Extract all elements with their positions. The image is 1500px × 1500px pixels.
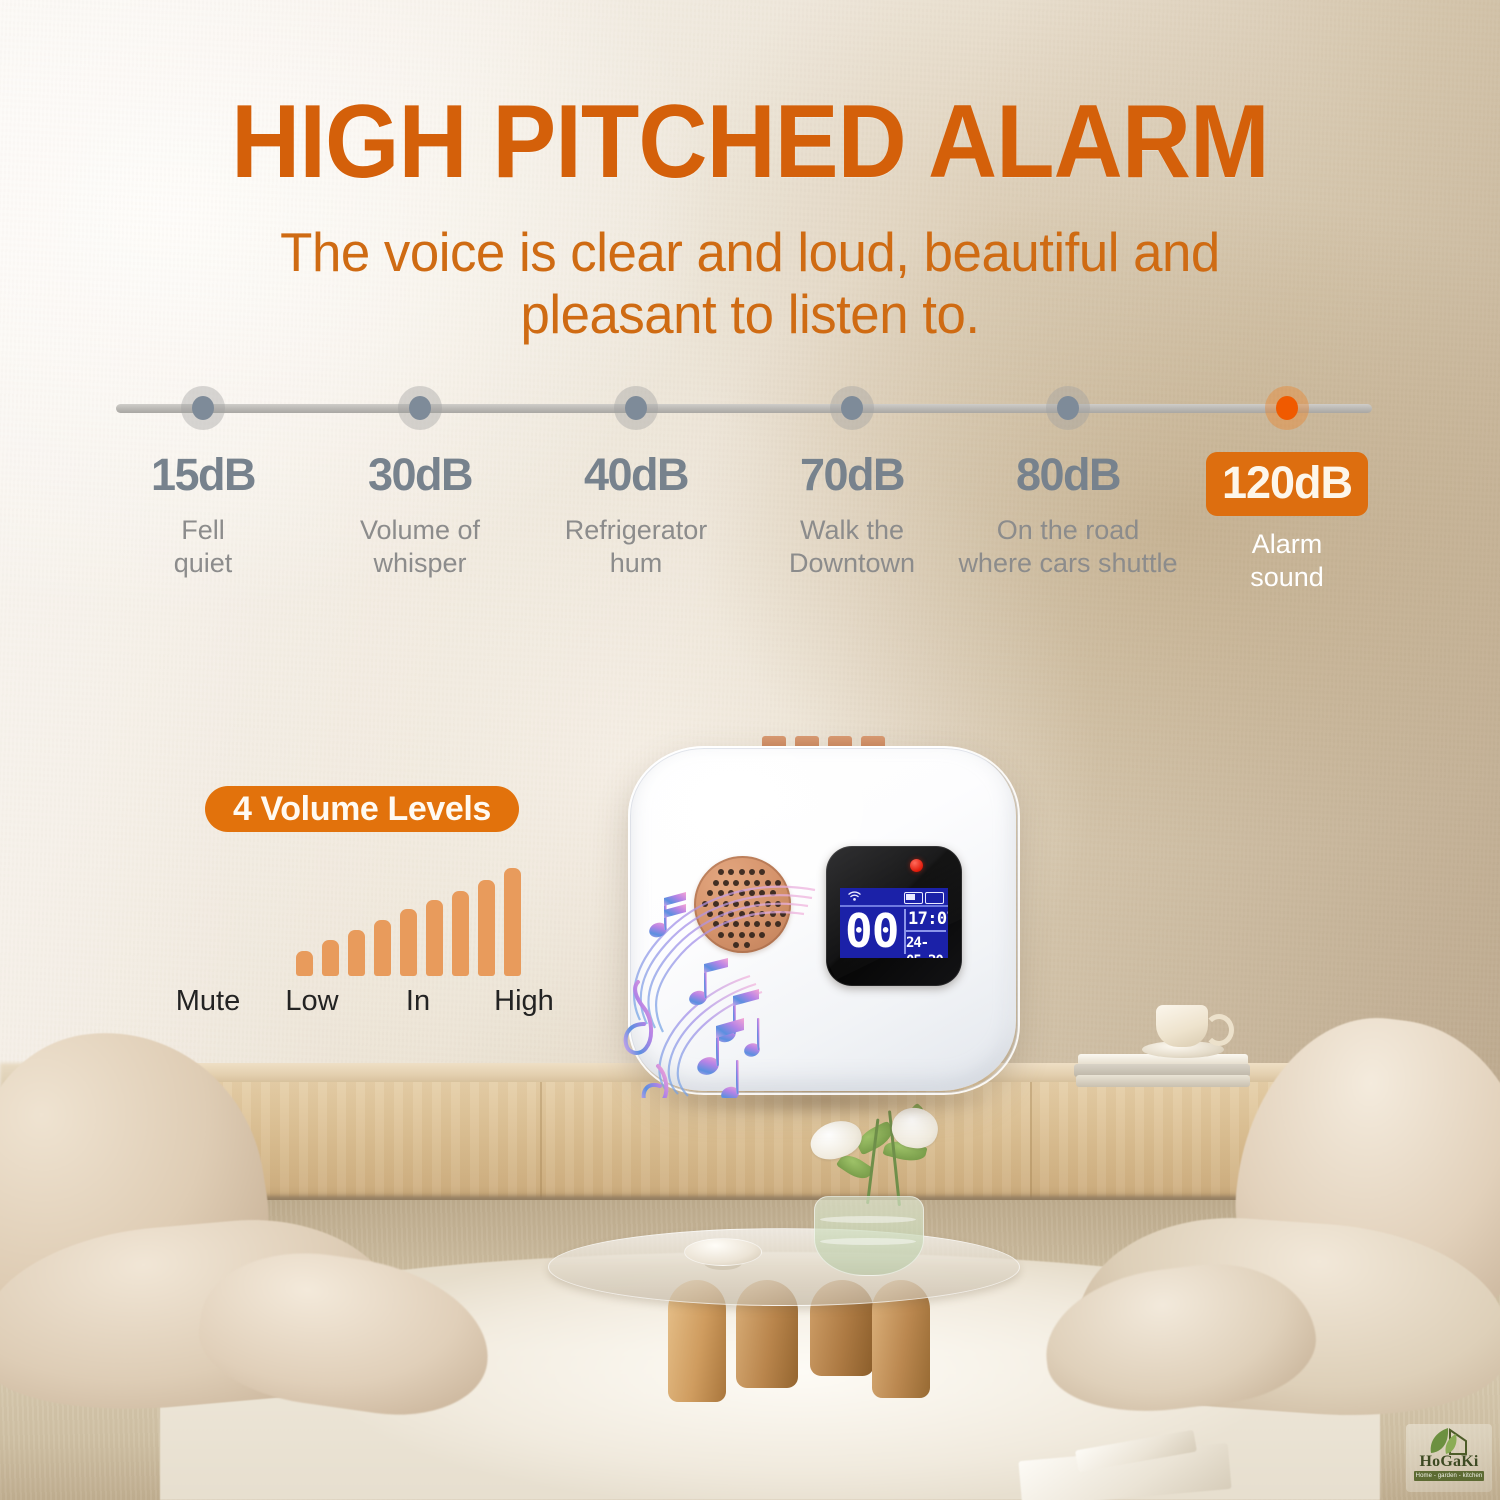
db-scale-label-80db: 80dBOn the roadwhere cars shuttle bbox=[943, 452, 1193, 580]
volume-label-high: High bbox=[494, 985, 554, 1018]
dot-core bbox=[625, 396, 647, 420]
coffee-table-glass-top bbox=[548, 1228, 1020, 1306]
dot-core bbox=[841, 396, 863, 420]
logo-tagline: Home - garden - kitchen bbox=[1414, 1471, 1484, 1481]
db-scale-dot-70db bbox=[830, 386, 874, 430]
music-notes-decoration bbox=[600, 838, 830, 1098]
leaf-house-icon bbox=[1426, 1426, 1472, 1456]
db-description: Fellquiet bbox=[78, 514, 328, 580]
brand-logo: HoGaKi Home - garden - kitchen bbox=[1406, 1424, 1492, 1492]
glass-vase bbox=[814, 1196, 924, 1276]
dot-core bbox=[1276, 396, 1298, 420]
lcd-time: 17:07 bbox=[908, 909, 946, 929]
db-scale-dot-15db bbox=[181, 386, 225, 430]
lcd-reading: 00 bbox=[845, 908, 903, 955]
db-description: On the roadwhere cars shuttle bbox=[943, 514, 1193, 580]
db-value: 80dB bbox=[943, 452, 1193, 497]
volume-bar-7 bbox=[452, 891, 469, 976]
book-bottom bbox=[1076, 1075, 1250, 1087]
lcd-time-separator bbox=[906, 930, 946, 932]
battery-charging-icon bbox=[904, 892, 923, 904]
page-title: HIGH PITCHED ALARM bbox=[60, 90, 1440, 194]
db-value: 120dB bbox=[1206, 452, 1368, 516]
volume-bar-5 bbox=[400, 909, 417, 976]
status-led-icon bbox=[910, 859, 923, 872]
vase-ring bbox=[820, 1238, 916, 1245]
db-scale-label-40db: 40dBRefrigeratorhum bbox=[511, 452, 761, 580]
db-scale-track bbox=[116, 404, 1372, 413]
db-scale-dot-120db bbox=[1265, 386, 1309, 430]
volume-label-low: Low bbox=[285, 985, 338, 1018]
dot-core bbox=[409, 396, 431, 420]
volume-bar-4 bbox=[374, 920, 391, 976]
battery-empty-icon bbox=[925, 892, 944, 904]
logo-wordmark: HoGaKi bbox=[1406, 1454, 1492, 1470]
decor-bowl bbox=[684, 1238, 762, 1266]
db-value: 70dB bbox=[727, 452, 977, 497]
db-scale-dot-30db bbox=[398, 386, 442, 430]
coffee-cup bbox=[1156, 1005, 1208, 1047]
device-display-panel: 00 17:07 24-05-20 bbox=[826, 846, 962, 986]
dot-core bbox=[1057, 396, 1079, 420]
volume-bar-1 bbox=[296, 951, 313, 976]
db-description: Volume ofwhisper bbox=[295, 514, 545, 580]
db-scale-label-120db: 120dBAlarmsound bbox=[1162, 452, 1412, 594]
db-description: Walk theDowntown bbox=[727, 514, 977, 580]
db-description: Alarmsound bbox=[1162, 528, 1412, 594]
db-scale-label-15db: 15dBFellquiet bbox=[78, 452, 328, 580]
lcd-date: 24-05-20 bbox=[906, 934, 948, 952]
db-scale-label-30db: 30dBVolume ofwhisper bbox=[295, 452, 545, 580]
volume-bar-3 bbox=[348, 930, 365, 976]
db-value: 15dB bbox=[78, 452, 328, 497]
volume-bar-9 bbox=[504, 868, 521, 976]
sideboard-seam bbox=[540, 1082, 542, 1200]
page-subtitle: The voice is clear and loud, beautiful a… bbox=[251, 222, 1249, 345]
db-value: 40dB bbox=[511, 452, 761, 497]
volume-level-bar-chart bbox=[296, 866, 536, 976]
promo-banner: HIGH PITCHED ALARM The voice is clear an… bbox=[0, 0, 1500, 1500]
vase-ring bbox=[820, 1216, 916, 1223]
db-description: Refrigeratorhum bbox=[511, 514, 761, 580]
db-value: 30dB bbox=[295, 452, 545, 497]
volume-levels-badge: 4 Volume Levels bbox=[205, 786, 519, 832]
db-scale-label-70db: 70dBWalk theDowntown bbox=[727, 452, 977, 580]
volume-bar-6 bbox=[426, 900, 443, 976]
volume-label-in: In bbox=[406, 985, 430, 1018]
volume-label-mute: Mute bbox=[176, 985, 240, 1018]
volume-level-axis-labels: MuteLowInHigh bbox=[160, 985, 580, 1025]
cup-handle bbox=[1204, 1014, 1234, 1046]
dot-core bbox=[192, 396, 214, 420]
db-scale-dot-40db bbox=[614, 386, 658, 430]
wifi-icon bbox=[848, 891, 861, 902]
volume-bar-8 bbox=[478, 880, 495, 976]
db-scale-dot-80db bbox=[1046, 386, 1090, 430]
volume-bar-2 bbox=[322, 940, 339, 976]
lcd-screen: 00 17:07 24-05-20 bbox=[840, 888, 948, 958]
